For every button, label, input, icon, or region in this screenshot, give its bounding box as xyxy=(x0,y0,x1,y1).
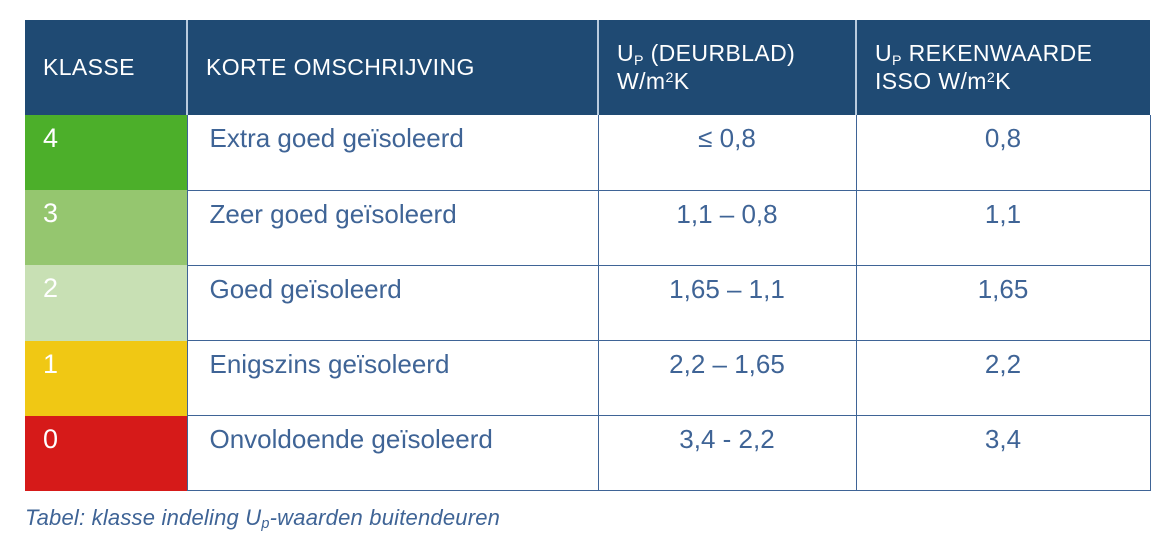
table-row: 2 Goed geïsoleerd 1,65 – 1,1 1,65 xyxy=(25,265,1150,340)
up-deurblad-cell: 3,4 - 2,2 xyxy=(598,416,856,491)
up-symbol-u: U xyxy=(617,40,634,66)
isso-unit-superscript-two: 2 xyxy=(987,70,995,86)
isso-symbol-subscript: P xyxy=(892,53,902,69)
klasse-color-cell: 3 xyxy=(25,190,187,265)
unit-suffix: K xyxy=(674,68,690,94)
table-body: 4 Extra goed geïsoleerd ≤ 0,8 0,8 3 Zeer… xyxy=(25,115,1150,491)
caption-pre: Tabel: klasse indeling U xyxy=(25,505,261,530)
table-row: 4 Extra goed geïsoleerd ≤ 0,8 0,8 xyxy=(25,115,1150,190)
table-row: 1 Enigszins geïsoleerd 2,2 – 1,65 2,2 xyxy=(25,341,1150,416)
omschrijving-cell: Extra goed geïsoleerd xyxy=(187,115,598,190)
up-rekenwaarde-isso-cell: 2,2 xyxy=(856,341,1150,416)
column-header-klasse: KLASSE xyxy=(25,20,187,115)
up-symbol-subscript: P xyxy=(634,53,644,69)
isso-symbol-u: U xyxy=(875,40,892,66)
table-row: 3 Zeer goed geïsoleerd 1,1 – 0,8 1,1 xyxy=(25,190,1150,265)
klasse-table-wrapper: KLASSE KORTE OMSCHRIJVING UP (DEURBLAD) … xyxy=(25,20,1150,491)
unit-superscript-two: 2 xyxy=(665,70,673,86)
column-header-up-deurblad-line2: W/m2K xyxy=(617,68,855,95)
up-rekenwaarde-isso-cell: 1,65 xyxy=(856,265,1150,340)
klasse-value: 3 xyxy=(43,198,58,228)
unit-prefix: W/m xyxy=(617,68,665,94)
up-rekenwaarde-isso-cell: 3,4 xyxy=(856,416,1150,491)
up-deurblad-cell: 1,1 – 0,8 xyxy=(598,190,856,265)
up-rekenwaarde-isso-cell: 0,8 xyxy=(856,115,1150,190)
klasse-indeling-table: KLASSE KORTE OMSCHRIJVING UP (DEURBLAD) … xyxy=(25,20,1151,491)
table-page: KLASSE KORTE OMSCHRIJVING UP (DEURBLAD) … xyxy=(0,0,1174,556)
klasse-color-cell: 1 xyxy=(25,341,187,416)
column-header-isso-line1: UP REKENWAARDE xyxy=(875,40,1150,67)
klasse-value: 4 xyxy=(43,123,58,153)
klasse-value: 0 xyxy=(43,424,58,454)
header-row: KLASSE KORTE OMSCHRIJVING UP (DEURBLAD) … xyxy=(25,20,1150,115)
klasse-color-cell: 4 xyxy=(25,115,187,190)
caption-subscript-p: p xyxy=(261,516,269,532)
klasse-color-cell: 2 xyxy=(25,265,187,340)
table-row: 0 Onvoldoende geïsoleerd 3,4 - 2,2 3,4 xyxy=(25,416,1150,491)
column-header-up-rekenwaarde-isso: UP REKENWAARDE ISSO W/m2K xyxy=(856,20,1150,115)
klasse-value: 1 xyxy=(43,349,58,379)
column-header-omschrijving-label: KORTE OMSCHRIJVING xyxy=(206,54,597,81)
omschrijving-cell: Onvoldoende geïsoleerd xyxy=(187,416,598,491)
column-header-up-deurblad: UP (DEURBLAD) W/m2K xyxy=(598,20,856,115)
omschrijving-cell: Zeer goed geïsoleerd xyxy=(187,190,598,265)
column-header-isso-line2: ISSO W/m2K xyxy=(875,68,1150,95)
klasse-value: 2 xyxy=(43,273,58,303)
column-header-up-deurblad-line1: UP (DEURBLAD) xyxy=(617,40,855,67)
up-deurblad-cell: 2,2 – 1,65 xyxy=(598,341,856,416)
table-caption: Tabel: klasse indeling Up-waarden buiten… xyxy=(25,505,500,531)
omschrijving-cell: Enigszins geïsoleerd xyxy=(187,341,598,416)
caption-post: -waarden buitendeuren xyxy=(270,505,500,530)
up-deurblad-cell: 1,65 – 1,1 xyxy=(598,265,856,340)
column-header-omschrijving: KORTE OMSCHRIJVING xyxy=(187,20,598,115)
up-rekenwaarde-isso-cell: 1,1 xyxy=(856,190,1150,265)
omschrijving-cell: Goed geïsoleerd xyxy=(187,265,598,340)
klasse-color-cell: 0 xyxy=(25,416,187,491)
column-header-klasse-label: KLASSE xyxy=(43,54,186,81)
isso-unit-suffix: K xyxy=(995,68,1011,94)
up-deurblad-cell: ≤ 0,8 xyxy=(598,115,856,190)
isso-rekenwaarde-text: REKENWAARDE xyxy=(902,40,1093,66)
isso-unit-prefix: ISSO W/m xyxy=(875,68,987,94)
up-deurblad-text: (DEURBLAD) xyxy=(644,40,795,66)
table-header: KLASSE KORTE OMSCHRIJVING UP (DEURBLAD) … xyxy=(25,20,1150,115)
